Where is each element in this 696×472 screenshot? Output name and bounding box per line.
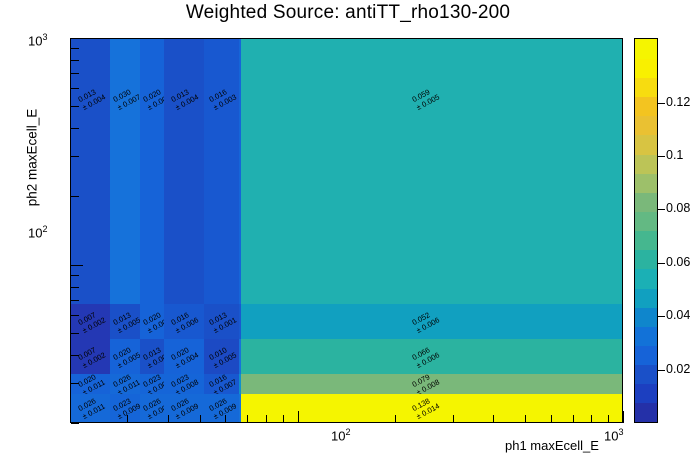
y-tick-label-100: 102 (28, 224, 47, 240)
colorbar-tick-label: 0.04 (666, 308, 690, 322)
tick-mark (71, 128, 79, 129)
colorbar-segment (635, 326, 657, 346)
tick-mark (525, 415, 526, 423)
colorbar-segment (635, 403, 657, 423)
heatmap-plot-area[interactable]: 0.013± 0.0040.030± 0.0070.020± 0.0050.01… (70, 38, 623, 423)
colorbar-segment (635, 211, 657, 231)
heatmap-cell (204, 39, 239, 304)
colorbar-tick-label: 0.02 (666, 362, 690, 376)
colorbar-tick (658, 316, 665, 317)
tick-mark (200, 415, 201, 423)
colorbar-tick-label: 0.1 (666, 148, 683, 162)
colorbar-segment (635, 135, 657, 155)
tick-mark (71, 287, 79, 288)
x-axis-label: ph1 maxEcell_E (505, 438, 599, 453)
heatmap-cell (140, 39, 164, 304)
tick-mark (573, 415, 574, 423)
heatmap-cell (110, 39, 140, 304)
tick-mark (71, 48, 79, 49)
tick-mark (453, 415, 454, 423)
tick-mark (71, 333, 79, 334)
colorbar-tick (658, 263, 665, 264)
y-axis-area: ph2 maxEcell_E (0, 0, 70, 423)
colorbar-segment (635, 116, 657, 136)
tick-mark (71, 60, 79, 61)
tick-mark (493, 415, 494, 423)
tick-mark (247, 415, 248, 423)
colorbar-segment (635, 58, 657, 78)
tick-mark (395, 415, 396, 423)
colorbar-tick (658, 103, 665, 104)
x-tick-label-100: 102 (331, 427, 350, 443)
tick-mark (225, 415, 226, 423)
tick-mark (623, 411, 624, 423)
x-tick-label-1000: 103 (604, 427, 623, 443)
tick-mark (608, 415, 609, 423)
colorbar-segment (635, 307, 657, 327)
tick-mark (168, 415, 169, 423)
colorbar-segment (635, 173, 657, 193)
tick-mark (298, 411, 299, 423)
tick-mark (71, 315, 79, 316)
tick-mark (71, 196, 79, 197)
tick-mark (71, 73, 79, 74)
tick-mark (283, 415, 284, 423)
colorbar-tick (658, 370, 665, 371)
colorbar-tick (658, 156, 665, 157)
colorbar-tick-label: 0.06 (666, 255, 690, 269)
colorbar-segment (635, 384, 657, 404)
colorbar-segment (635, 39, 657, 59)
colorbar-segment (635, 288, 657, 308)
tick-mark (71, 383, 79, 384)
colorbar-segment (635, 192, 657, 212)
tick-mark (71, 300, 79, 301)
tick-mark (127, 415, 128, 423)
tick-mark (71, 38, 83, 39)
colorbar-tick-label: 0.08 (666, 201, 690, 215)
colorbar-segment (635, 345, 657, 365)
tick-mark (71, 88, 79, 89)
colorbar[interactable] (634, 38, 658, 423)
heatmap-cell (164, 39, 204, 304)
colorbar-tick (658, 209, 665, 210)
colorbar-segment (635, 250, 657, 270)
tick-mark (591, 415, 592, 423)
colorbar-tick-label: 0.12 (666, 95, 690, 109)
page-title: Weighted Source: antiTT_rho130-200 (0, 2, 696, 24)
root-canvas: Weighted Source: antiTT_rho130-200 ph2 m… (0, 0, 696, 472)
tick-mark (71, 106, 79, 107)
tick-mark (71, 275, 79, 276)
heatmap-cell (241, 39, 622, 304)
tick-mark (71, 355, 79, 356)
colorbar-segment (635, 231, 657, 251)
tick-mark (71, 265, 83, 266)
colorbar-segment (635, 365, 657, 385)
colorbar-segment (635, 269, 657, 289)
tick-mark (551, 415, 552, 423)
tick-mark (71, 423, 79, 424)
colorbar-segment (635, 77, 657, 97)
colorbar-segment (635, 96, 657, 116)
heatmap-cells: 0.013± 0.0040.030± 0.0070.020± 0.0050.01… (71, 39, 622, 422)
tick-mark (266, 415, 267, 423)
colorbar-segment (635, 154, 657, 174)
tick-mark (71, 156, 79, 157)
y-tick-label-1000: 103 (28, 32, 47, 48)
